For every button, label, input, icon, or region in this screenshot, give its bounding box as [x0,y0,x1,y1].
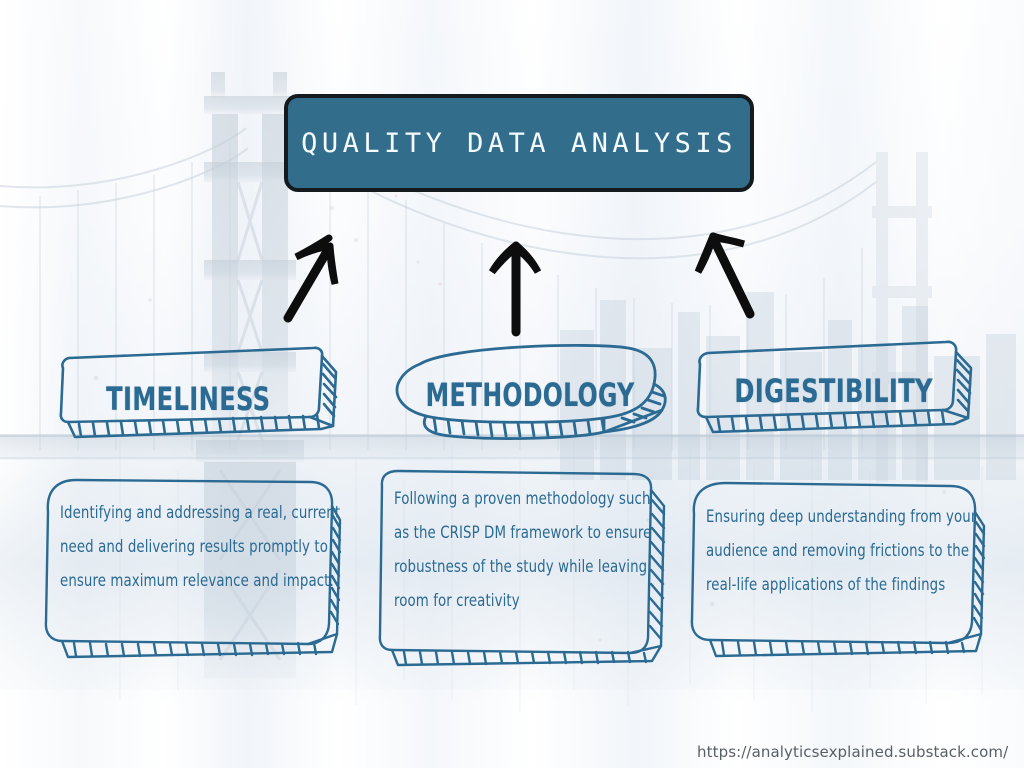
pillar-body-text: Following a proven methodology such as t… [394,482,664,618]
footer-url[interactable]: https://analyticsexplained.substack.com/ [697,743,1008,761]
pillar-header-timeliness: TIMELINESS [55,344,345,444]
pillar-header-methodology: METHODOLOGY [390,342,680,442]
arrow-timeliness-icon [272,222,402,332]
main-title-banner: QUALITY DATA ANALYSIS [284,94,754,192]
arrow-methodology-icon [476,232,566,340]
pillar-header-label: TIMELINESS [66,349,310,449]
pillar-header-label: METHODOLOGY [411,345,649,445]
arrow-digestibility-icon [684,218,794,328]
pillar-body-card-methodology: Following a proven methodology such as t… [376,466,668,672]
pillar-body-text: Ensuring deep understanding from your au… [706,500,1003,602]
pillar-body-text: Identifying and addressing a real, curre… [60,496,357,598]
pillar-body-card-timeliness: Identifying and addressing a real, curre… [42,474,342,670]
pillar-body-card-digestibility: Ensuring deep understanding from your au… [688,478,986,670]
pillar-header-digestibility: DIGESTIBILITY [692,338,982,438]
pillar-header-label: DIGESTIBILITY [712,341,956,441]
slide-canvas: QUALITY DATA ANALYSIS TIMELINESS [0,0,1024,768]
page-title: QUALITY DATA ANALYSIS [301,128,737,159]
